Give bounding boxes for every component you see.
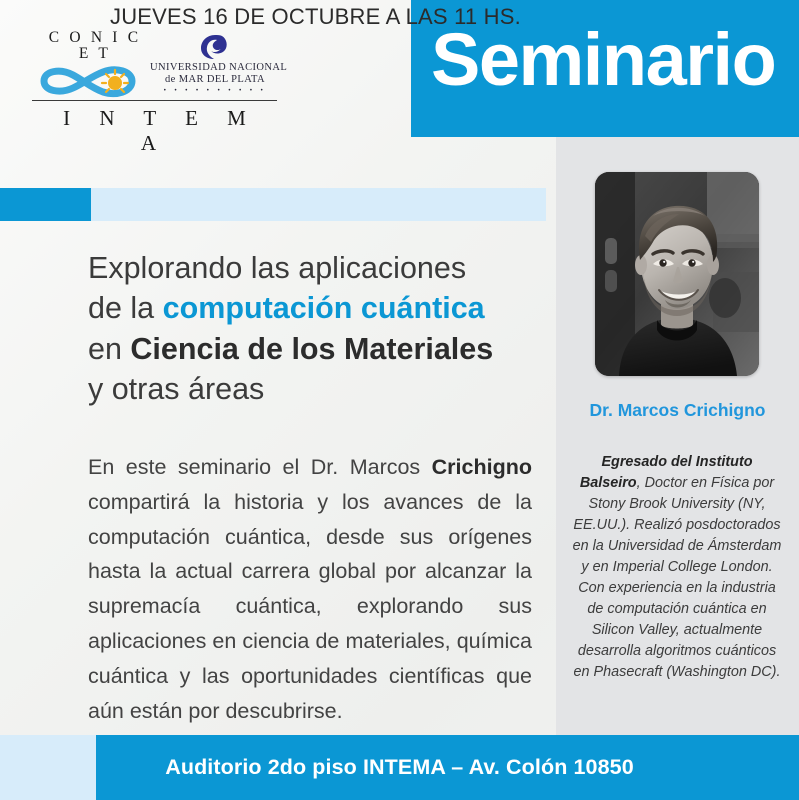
description-part-2: compartirá la historia y los avances de … [88, 490, 532, 723]
speaker-name: Dr. Marcos Crichigno [556, 400, 799, 422]
speaker-portrait-graphic [595, 172, 759, 376]
unmdp-line-1: UNIVERSIDAD NACIONAL [150, 62, 280, 74]
title-line-2: de la computación cuántica [88, 288, 548, 328]
unmdp-line-2: de MAR DEL PLATA [150, 74, 280, 87]
date-strip [0, 188, 546, 221]
seminar-description: En este seminario el Dr. Marcos Crichign… [88, 450, 532, 729]
seminar-title: Explorando las aplicaciones de la comput… [88, 248, 548, 409]
description-part-1: En este seminario el Dr. Marcos [88, 455, 432, 479]
footer-location-text: Auditorio 2do piso INTEMA – Av. Colón 10… [0, 735, 799, 800]
intema-wordmark: I N T E M A [32, 106, 277, 156]
seminar-date-text: JUEVES 16 DE OCTUBRE A LAS 11 HS. [110, 4, 521, 30]
unmdp-logo: UNIVERSIDAD NACIONAL de MAR DEL PLATA • … [150, 34, 280, 94]
title-line-3-prefix: en [88, 332, 130, 366]
conicet-logo: C O N I C E T [40, 30, 150, 103]
title-line-1: Explorando las aplicaciones [88, 248, 548, 288]
title-highlight-quantum-computing: computación cuántica [163, 291, 485, 325]
conicet-wordmark: C O N I C E T [40, 30, 150, 61]
speaker-bio-rest: , Doctor en Física por Stony Brook Unive… [573, 475, 782, 680]
title-line-4: y otras áreas [88, 369, 548, 409]
date-strip-accent-block [0, 188, 91, 221]
title-line-2-prefix: de la [88, 291, 163, 325]
speaker-bio: Egresado del Instituto Balseiro, Doctor … [570, 452, 784, 683]
logo-divider-rule [32, 100, 277, 101]
title-line-3: en Ciencia de los Materiales [88, 329, 548, 369]
unmdp-dot-rule: • • • • • • • • • • [150, 88, 280, 94]
title-bold-materials-science: Ciencia de los Materiales [130, 332, 493, 366]
description-speaker-surname: Crichigno [432, 455, 532, 479]
seminar-poster: C O N I C E T [0, 0, 799, 800]
conicet-infinity-sun-icon [40, 64, 150, 98]
speaker-portrait-photo [595, 172, 759, 376]
institutional-logo-lockup: C O N I C E T [32, 30, 277, 132]
unmdp-wave-icon [200, 34, 230, 60]
